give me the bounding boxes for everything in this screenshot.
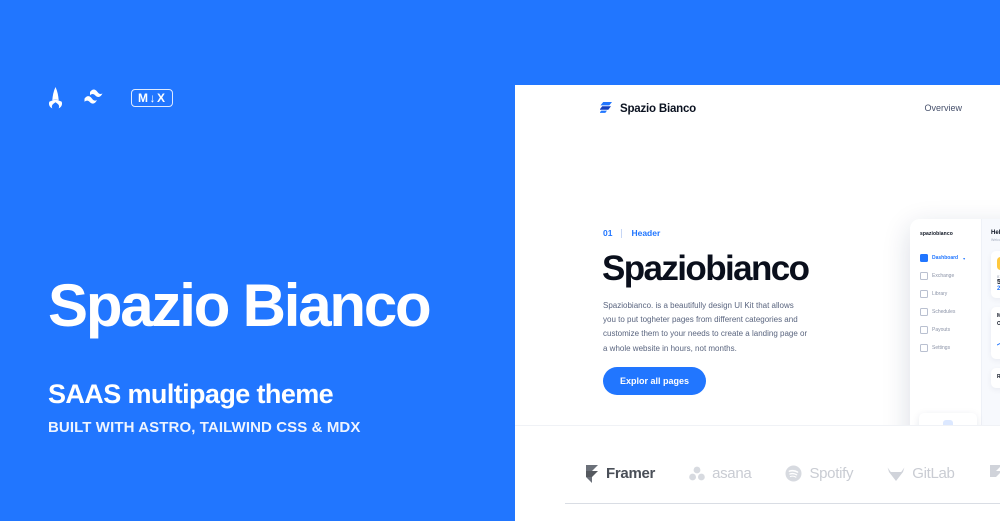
- promo-title: Spazio Bianco: [48, 276, 429, 336]
- mockup-item-exchange[interactable]: Exchange: [920, 272, 981, 280]
- mockup-item-payouts[interactable]: Payouts: [920, 326, 981, 334]
- gitlab-mark-icon: [887, 465, 905, 482]
- screenshot-root: M↓X Spazio Bianco SAAS multipage theme B…: [0, 0, 1000, 521]
- bottom-divider: [565, 503, 1000, 504]
- website-preview: Spazio Bianco Overview S 01 Header Spazi…: [515, 85, 1000, 521]
- library-icon: [920, 290, 928, 298]
- mockup-item-dashboard[interactable]: Dashboard ▾: [920, 254, 981, 262]
- site-navbar: Spazio Bianco Overview S: [515, 85, 1000, 133]
- mockup-item-library[interactable]: Library: [920, 290, 981, 298]
- promo-built-with: BUILT WITH ASTRO, TAILWIND CSS & MDX: [48, 419, 360, 436]
- hero-section: 01 Header Spaziobianco Spaziobianco. is …: [515, 133, 1000, 446]
- spotify-mark-icon: [785, 465, 802, 482]
- spotify-label: Spotify: [809, 465, 853, 482]
- mockup-item-schedules[interactable]: Schedules: [920, 308, 981, 316]
- asana-label: asana: [712, 465, 751, 482]
- gitlab-logo: GitLab: [887, 465, 954, 482]
- mockup-greeting-sub: Welcome back: [991, 238, 1000, 242]
- mockup-recent-card: Rec: [991, 368, 1000, 388]
- mockup-item-settings[interactable]: Settings: [920, 344, 981, 352]
- dashboard-mockup: spaziobianco Dashboard ▾ Exchange Librar…: [910, 219, 1000, 459]
- mockup-main: Hello Welcome back BT 578 29. Mar Ove: [982, 219, 1000, 459]
- mdx-arrow: ↓: [150, 92, 157, 104]
- framer-label: Framer: [606, 465, 655, 482]
- dashboard-icon: [920, 254, 928, 262]
- tailwind-icon: [83, 89, 111, 107]
- mockup-item-label: Library: [932, 291, 947, 297]
- mockup-balance-card: BT 578 29.: [991, 251, 1000, 298]
- spazio-logo-icon: [600, 100, 613, 118]
- asana-logo: asana: [689, 465, 751, 482]
- mdx-x: X: [157, 92, 166, 104]
- hero-paragraph: Spaziobianco. is a beautifully design UI…: [603, 299, 808, 356]
- gear-icon: [920, 344, 928, 352]
- payouts-icon: [920, 326, 928, 334]
- hero-title: Spaziobianco: [602, 251, 808, 286]
- mockup-item-label: Dashboard: [932, 255, 958, 261]
- eyebrow-label: Header: [631, 228, 660, 238]
- spotify-logo: Spotify: [785, 465, 853, 482]
- mockup-item-label: Payouts: [932, 327, 950, 333]
- mockup-item-label: Schedules: [932, 309, 955, 315]
- tech-stack-row: M↓X: [48, 84, 173, 112]
- promo-subtitle: SAAS multipage theme: [48, 379, 333, 410]
- framer-mark-icon: [585, 465, 599, 483]
- mockup-greeting: Hello: [991, 230, 1000, 236]
- gitlab-label: GitLab: [912, 465, 954, 482]
- mockup-item-label: Exchange: [932, 273, 954, 279]
- astro-icon: [48, 87, 63, 109]
- site-nav-links: Overview S: [924, 103, 1000, 113]
- hero-eyebrow: 01 Header: [603, 228, 660, 238]
- asana-mark-icon: [689, 466, 705, 481]
- eyebrow-number: 01: [603, 228, 612, 238]
- exchange-icon: [920, 272, 928, 280]
- site-brand[interactable]: Spazio Bianco: [600, 100, 696, 118]
- schedules-icon: [920, 308, 928, 316]
- partial-logo-cut-off: [989, 465, 1000, 483]
- promo-panel: M↓X Spazio Bianco SAAS multipage theme B…: [0, 0, 515, 521]
- chevron-down-icon: ▾: [963, 256, 965, 261]
- mdx-icon: M↓X: [131, 89, 173, 107]
- explore-all-pages-button[interactable]: Explor all pages: [603, 367, 706, 395]
- nav-link-overview[interactable]: Overview: [924, 103, 962, 113]
- mockup-overview-card: Mar Ove: [991, 307, 1000, 359]
- mockup-logo: spaziobianco: [920, 231, 981, 237]
- eyebrow-divider: [621, 229, 622, 238]
- framer-logo: Framer: [585, 465, 655, 483]
- mdx-m: M: [138, 92, 149, 104]
- site-brand-name: Spazio Bianco: [620, 103, 696, 115]
- mockup-item-label: Settings: [932, 345, 950, 351]
- partial-mark-icon: [989, 465, 1000, 483]
- logo-strip: Framer asana Spotify: [515, 425, 1000, 521]
